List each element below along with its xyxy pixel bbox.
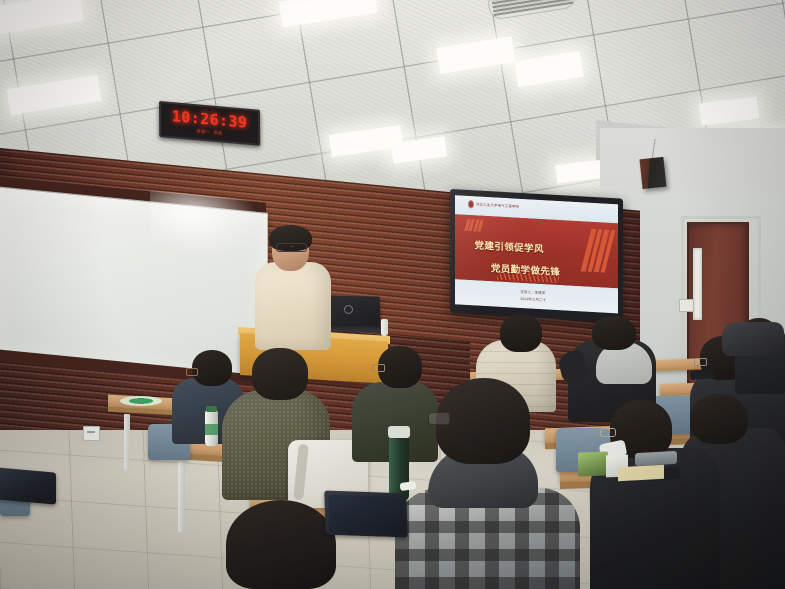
student-head [226, 500, 336, 589]
student-head [690, 394, 748, 444]
bottle-cap [206, 406, 217, 412]
logo-text: 河北工业大学电气工程学院 [476, 202, 519, 209]
student-glasses-icon [186, 368, 198, 376]
student-glasses-icon [694, 358, 707, 366]
student-head [252, 348, 308, 400]
pencil-case [635, 451, 677, 466]
podium-bottle [381, 319, 388, 336]
clock-time-display: 10:26:39 [172, 109, 248, 131]
power-outlet[interactable] [83, 426, 100, 441]
student-glasses-icon [600, 428, 616, 437]
presenter-body [255, 262, 331, 350]
water-bottle-green [389, 436, 409, 500]
presentation-display[interactable]: 河北工业大学电气工程学院 党建引领促学风 党员勤学做先锋 主讲人：李建军 202… [450, 189, 623, 323]
dark-bag [722, 322, 784, 356]
desk-leg [124, 414, 130, 470]
green-folder [120, 396, 162, 406]
tablet-screen [328, 495, 403, 534]
notebook-paper [618, 465, 664, 481]
door-window [693, 248, 702, 320]
student-head [500, 314, 542, 352]
wall-speaker-icon [639, 157, 666, 189]
student-glasses-icon [428, 412, 450, 425]
whiteboard-glare [150, 190, 260, 261]
student-head [592, 316, 636, 350]
hp-logo-icon [344, 305, 353, 314]
slide-content: 河北工业大学电气工程学院 党建引领促学风 党员勤学做先锋 主讲人：李建军 202… [455, 195, 618, 313]
tissue-box [578, 451, 608, 476]
presenter-glasses-icon [276, 243, 307, 252]
clock-subtext: 星期一 温度 [197, 128, 223, 136]
student-glasses-icon [372, 364, 385, 372]
bottle-cap [388, 426, 410, 438]
classroom-photo: 10:26:39 星期一 温度 河北工业大学电气工程学院 党建引领促学风 党员勤… [0, 0, 785, 589]
tablet-device-left[interactable] [0, 467, 56, 504]
student-head [192, 350, 232, 386]
light-switch[interactable] [679, 299, 694, 312]
student-head [436, 378, 530, 464]
bottle-label [205, 424, 218, 435]
logo-mark-icon [468, 200, 474, 208]
desk-leg [178, 462, 185, 532]
